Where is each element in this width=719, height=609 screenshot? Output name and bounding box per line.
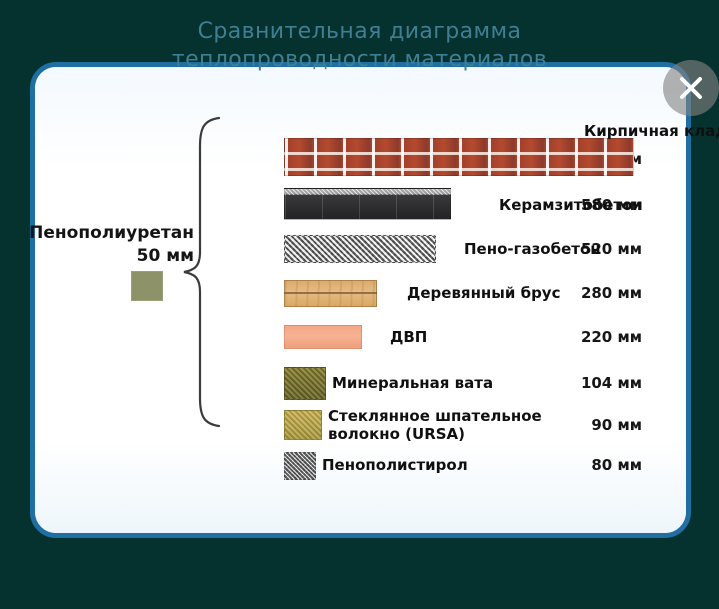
page-title: Сравнительная диаграмма теплопроводности… bbox=[0, 18, 719, 74]
material-name-label: Кирпичная кладка bbox=[584, 122, 719, 140]
material-swatch-bar bbox=[284, 325, 362, 349]
close-icon[interactable] bbox=[663, 60, 719, 116]
material-name-label: Минеральная вата bbox=[332, 374, 493, 392]
reference-material-label: Пенополиуретан 50 мм bbox=[14, 222, 194, 268]
material-swatch-bar bbox=[284, 280, 377, 307]
close-glyph bbox=[674, 71, 708, 105]
reference-material-swatch bbox=[131, 271, 163, 301]
thickness-label: 280 мм bbox=[556, 284, 642, 302]
material-swatch-bar bbox=[284, 452, 316, 480]
curly-brace bbox=[178, 116, 224, 428]
thickness-label: 220 мм bbox=[556, 328, 642, 346]
material-name-label: ДВП bbox=[390, 328, 427, 346]
page-title-line1: Сравнительная диаграмма bbox=[0, 18, 719, 46]
material-name-label: Пенополистирол bbox=[322, 456, 468, 474]
material-swatch-bar bbox=[284, 367, 326, 400]
thickness-label: 104 мм bbox=[556, 374, 642, 392]
thickness-label: 80 мм bbox=[556, 456, 642, 474]
reference-material-name: Пенополиуретан bbox=[14, 222, 194, 245]
material-swatch-bar bbox=[284, 410, 322, 440]
material-name-label: Керамзитобетон bbox=[499, 196, 643, 214]
material-swatch-bar bbox=[284, 235, 436, 263]
reference-material-thickness: 50 мм bbox=[14, 245, 194, 268]
material-swatch-bar bbox=[284, 138, 634, 176]
material-name-label: Пено-газобетон bbox=[464, 240, 601, 258]
material-name-label: Стеклянное шпательноеволокно (URSA) bbox=[328, 407, 542, 443]
page-title-line2: теплопроводности материалов bbox=[0, 46, 719, 74]
material-name-label: Деревянный брус bbox=[407, 284, 560, 302]
material-swatch-bar bbox=[284, 188, 451, 220]
thickness-label: 90 мм bbox=[556, 416, 642, 434]
